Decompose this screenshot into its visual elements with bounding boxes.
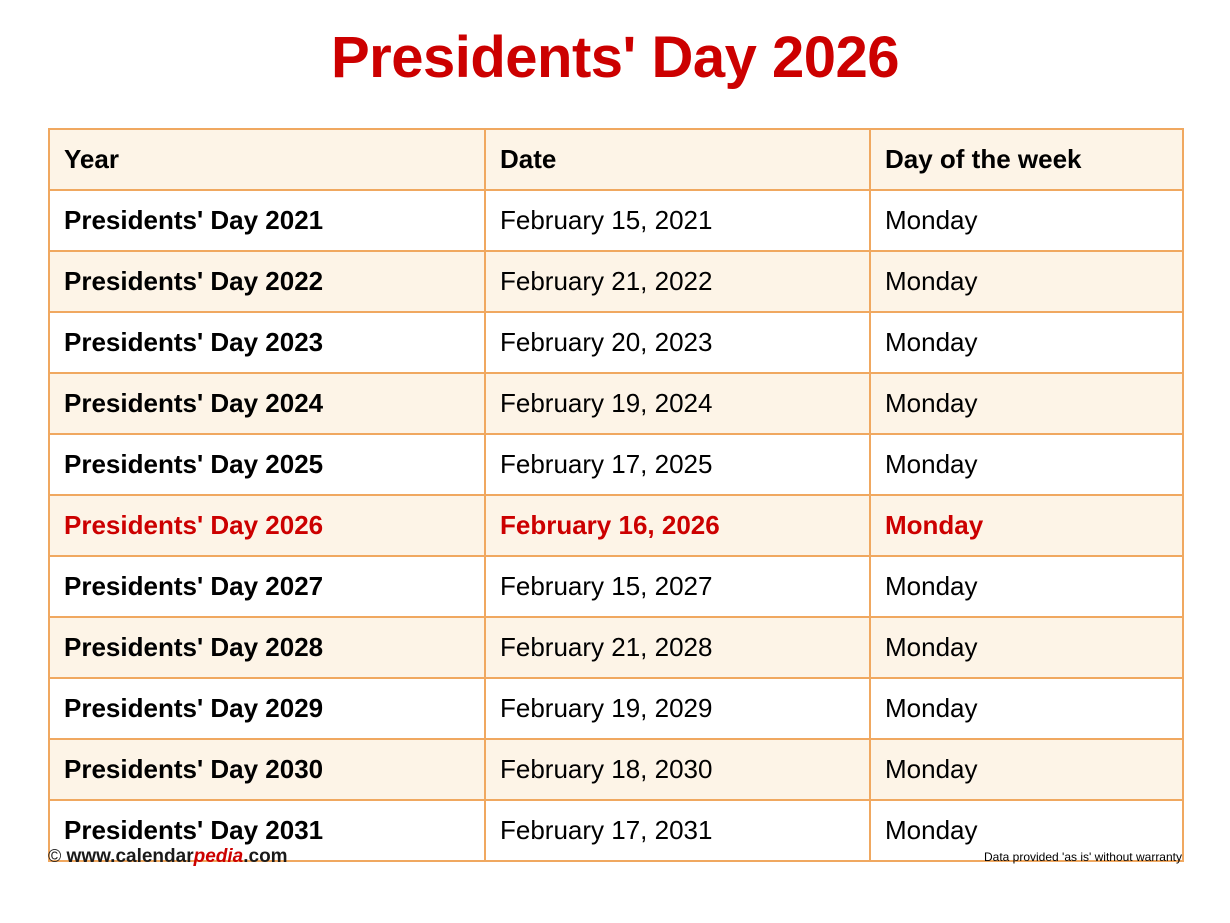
site-name-brand: pedia [194,846,244,867]
table-row: Presidents' Day 2026February 16, 2026Mon… [49,495,1183,556]
cell-date: February 20, 2023 [485,312,870,373]
cell-day: Monday [870,617,1183,678]
disclaimer-text: Data provided 'as is' without warranty [984,850,1182,864]
table-row: Presidents' Day 2023February 20, 2023Mon… [49,312,1183,373]
holiday-table-container: Year Date Day of the week Presidents' Da… [48,128,1182,862]
cell-day: Monday [870,739,1183,800]
cell-date: February 15, 2027 [485,556,870,617]
cell-day: Monday [870,190,1183,251]
cell-date: February 19, 2029 [485,678,870,739]
presidents-day-table: Year Date Day of the week Presidents' Da… [48,128,1184,862]
table-row: Presidents' Day 2021February 15, 2021Mon… [49,190,1183,251]
table-row: Presidents' Day 2024February 19, 2024Mon… [49,373,1183,434]
copyright-icon: © [48,846,61,866]
cell-date: February 19, 2024 [485,373,870,434]
site-name-prefix: www.calendar [61,846,193,867]
cell-year: Presidents' Day 2021 [49,190,485,251]
cell-date: February 18, 2030 [485,739,870,800]
table-row: Presidents' Day 2030February 18, 2030Mon… [49,739,1183,800]
cell-year: Presidents' Day 2023 [49,312,485,373]
cell-day: Monday [870,556,1183,617]
cell-year: Presidents' Day 2028 [49,617,485,678]
table-row: Presidents' Day 2029February 19, 2029Mon… [49,678,1183,739]
cell-year: Presidents' Day 2024 [49,373,485,434]
cell-date: February 15, 2021 [485,190,870,251]
site-name-suffix: .com [243,846,287,867]
table-body: Presidents' Day 2021February 15, 2021Mon… [49,190,1183,861]
cell-date: February 16, 2026 [485,495,870,556]
cell-year: Presidents' Day 2030 [49,739,485,800]
cell-year: Presidents' Day 2027 [49,556,485,617]
table-row: Presidents' Day 2027February 15, 2027Mon… [49,556,1183,617]
cell-date: February 21, 2022 [485,251,870,312]
table-header-row: Year Date Day of the week [49,129,1183,190]
cell-year: Presidents' Day 2029 [49,678,485,739]
table-row: Presidents' Day 2022February 21, 2022Mon… [49,251,1183,312]
column-header-date: Date [485,129,870,190]
page-footer: © www.calendarpedia.com Data provided 'a… [48,846,1182,876]
page-root: Presidents' Day 2026 Year Date Day of th… [0,0,1230,923]
cell-year: Presidents' Day 2026 [49,495,485,556]
cell-year: Presidents' Day 2025 [49,434,485,495]
cell-date: February 21, 2028 [485,617,870,678]
cell-day: Monday [870,312,1183,373]
cell-date: February 17, 2025 [485,434,870,495]
column-header-day: Day of the week [870,129,1183,190]
cell-day: Monday [870,678,1183,739]
column-header-year: Year [49,129,485,190]
cell-year: Presidents' Day 2022 [49,251,485,312]
table-header: Year Date Day of the week [49,129,1183,190]
table-row: Presidents' Day 2028February 21, 2028Mon… [49,617,1183,678]
table-row: Presidents' Day 2025February 17, 2025Mon… [49,434,1183,495]
cell-day: Monday [870,373,1183,434]
cell-day: Monday [870,251,1183,312]
cell-day: Monday [870,495,1183,556]
page-title: Presidents' Day 2026 [0,0,1230,89]
cell-day: Monday [870,434,1183,495]
copyright-notice: © www.calendarpedia.com [48,846,288,868]
